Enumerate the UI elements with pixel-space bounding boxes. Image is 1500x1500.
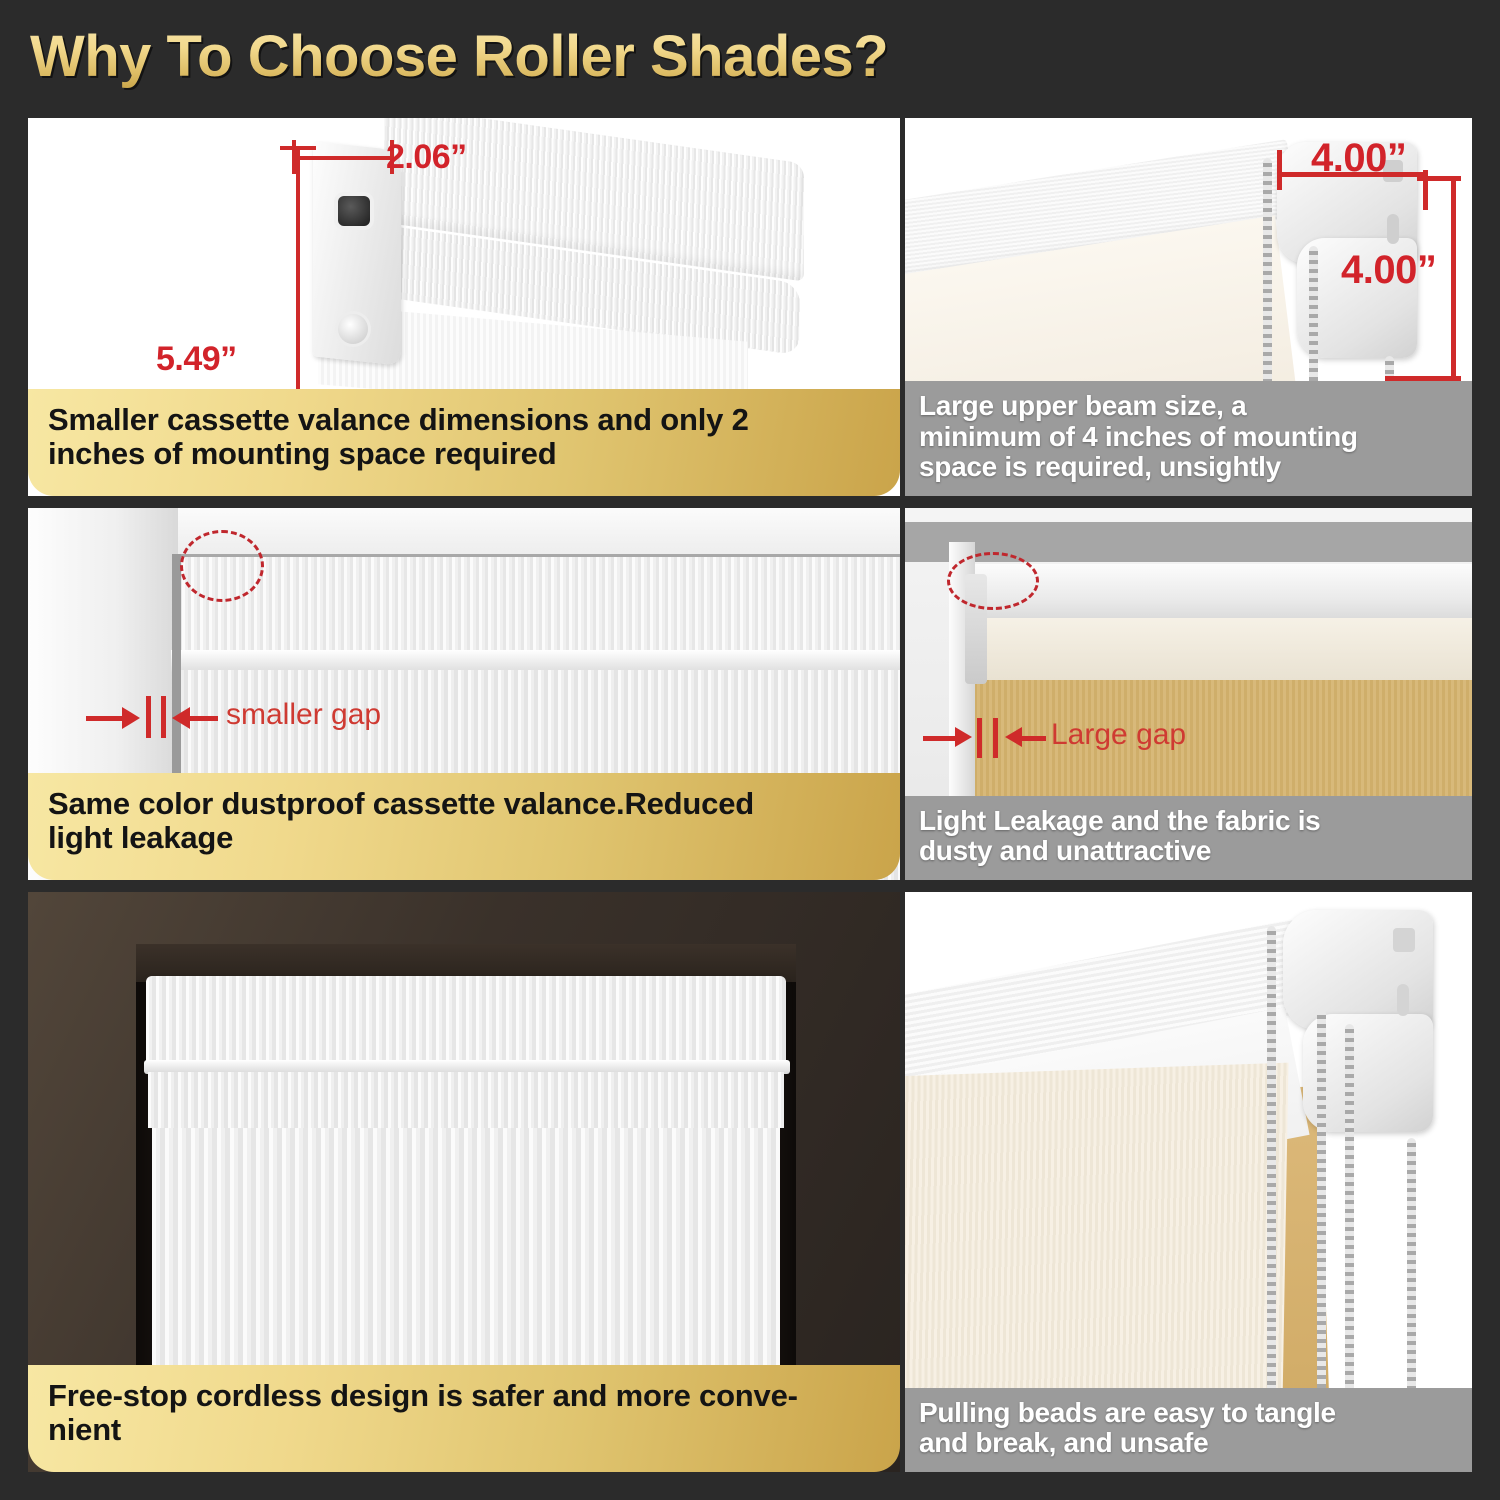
caption-line: inches of mounting space required — [48, 437, 880, 470]
height-tick-top — [280, 146, 316, 150]
bracket-slot2-icon — [1387, 214, 1399, 244]
gap-arrow-right-line — [1022, 736, 1046, 741]
caption-line: dusty and unattractive — [919, 836, 1458, 866]
caption-line: minimum of 4 inches of mounting — [919, 422, 1458, 452]
gap-arrow-right-head — [1005, 727, 1022, 747]
caption-line: space is required, unsightly — [919, 452, 1458, 482]
caption-bar: Light Leakage and the fabric is dusty an… — [905, 796, 1472, 880]
bead-chain-middle — [1317, 1010, 1326, 1430]
width-dimension-label: 4.00” — [1311, 136, 1406, 181]
cream-valance-shape — [971, 618, 1472, 680]
width-tick-left — [1277, 150, 1282, 190]
caption-line: Large upper beam size, a — [919, 391, 1458, 421]
caption-line: Free-stop cordless design is safer and m… — [48, 1379, 880, 1412]
gap-arrow-right-line — [190, 716, 218, 721]
caption-line: Light Leakage and the fabric is — [919, 806, 1458, 836]
width-measure-line — [294, 156, 394, 160]
gap-label: smaller gap — [226, 698, 381, 732]
gap-arrow-left-line — [923, 736, 957, 741]
cassette-screw-icon — [338, 314, 368, 344]
gap-bound-right — [993, 718, 998, 758]
panel-upper-beam-dimensions: 4.00” 4.00” Large upper beam size, a min… — [905, 118, 1472, 496]
caption-line: Same color dustproof cassette valance.Re… — [48, 787, 880, 820]
caption-bar: Smaller cassette valance dimensions and … — [28, 389, 900, 496]
height-tick-top — [1417, 176, 1461, 181]
pulling-beads-photo — [905, 892, 1472, 1472]
caption-line: and break, and unsafe — [919, 1428, 1458, 1458]
highlight-circle-icon — [947, 552, 1039, 610]
gap-bound-right — [161, 696, 166, 738]
bracket-slot2-icon — [1397, 984, 1409, 1016]
valance-band-shape — [148, 1072, 784, 1128]
panel-cassette-dimensions: 2.06” 5.49” Smaller cassette valance dim… — [28, 118, 900, 496]
caption-line: light leakage — [48, 821, 880, 854]
gap-bound-left — [977, 718, 982, 758]
height-measure-line — [1451, 178, 1456, 380]
caption-bar: Free-stop cordless design is safer and m… — [28, 1365, 900, 1472]
caption-bar: Same color dustproof cassette valance.Re… — [28, 773, 900, 880]
panel-pulling-beads: Pulling beads are easy to tangle and bre… — [905, 892, 1472, 1472]
page-title: Why To Choose Roller Shades? — [30, 18, 1450, 96]
width-dimension-label: 2.06” — [386, 138, 467, 177]
panel-smaller-gap: smaller gap Same color dustproof cassett… — [28, 508, 900, 880]
height-tick-bottom — [1385, 376, 1461, 381]
gap-arrow-right-head — [172, 707, 190, 729]
roller-tube-shape — [967, 564, 1472, 626]
bead-chain-middle2 — [1345, 1024, 1354, 1430]
caption-line: Pulling beads are easy to tangle — [919, 1398, 1458, 1428]
bead-chain-left — [1267, 926, 1276, 1432]
caption-bar: Large upper beam size, a minimum of 4 in… — [905, 381, 1472, 496]
bead-chain-right — [1407, 1138, 1416, 1430]
gap-arrow-left-head — [122, 707, 140, 729]
valance-shape — [173, 554, 900, 655]
panel-large-gap: Large gap Light Leakage and the fabric i… — [905, 508, 1472, 880]
caption-line: Smaller cassette valance dimensions and … — [48, 403, 880, 436]
valance-lip-shape — [171, 650, 900, 672]
gap-label: Large gap — [1051, 718, 1186, 752]
gap-bound-left — [146, 696, 151, 738]
cassette-valance-shape — [146, 976, 786, 1064]
gap-arrow-left-head — [955, 727, 972, 747]
panel-cordless-window: Free-stop cordless design is safer and m… — [28, 892, 900, 1472]
caption-bar: Pulling beads are easy to tangle and bre… — [905, 1388, 1472, 1472]
caption-line: nient — [48, 1413, 880, 1446]
height-dimension-label: 4.00” — [1341, 248, 1436, 293]
height-dimension-label: 5.49” — [156, 340, 237, 379]
highlight-circle-icon — [180, 530, 264, 602]
bracket-slot-icon — [1393, 928, 1415, 952]
cassette-dark-knob-icon — [338, 196, 370, 226]
gap-arrow-left-line — [86, 716, 124, 721]
